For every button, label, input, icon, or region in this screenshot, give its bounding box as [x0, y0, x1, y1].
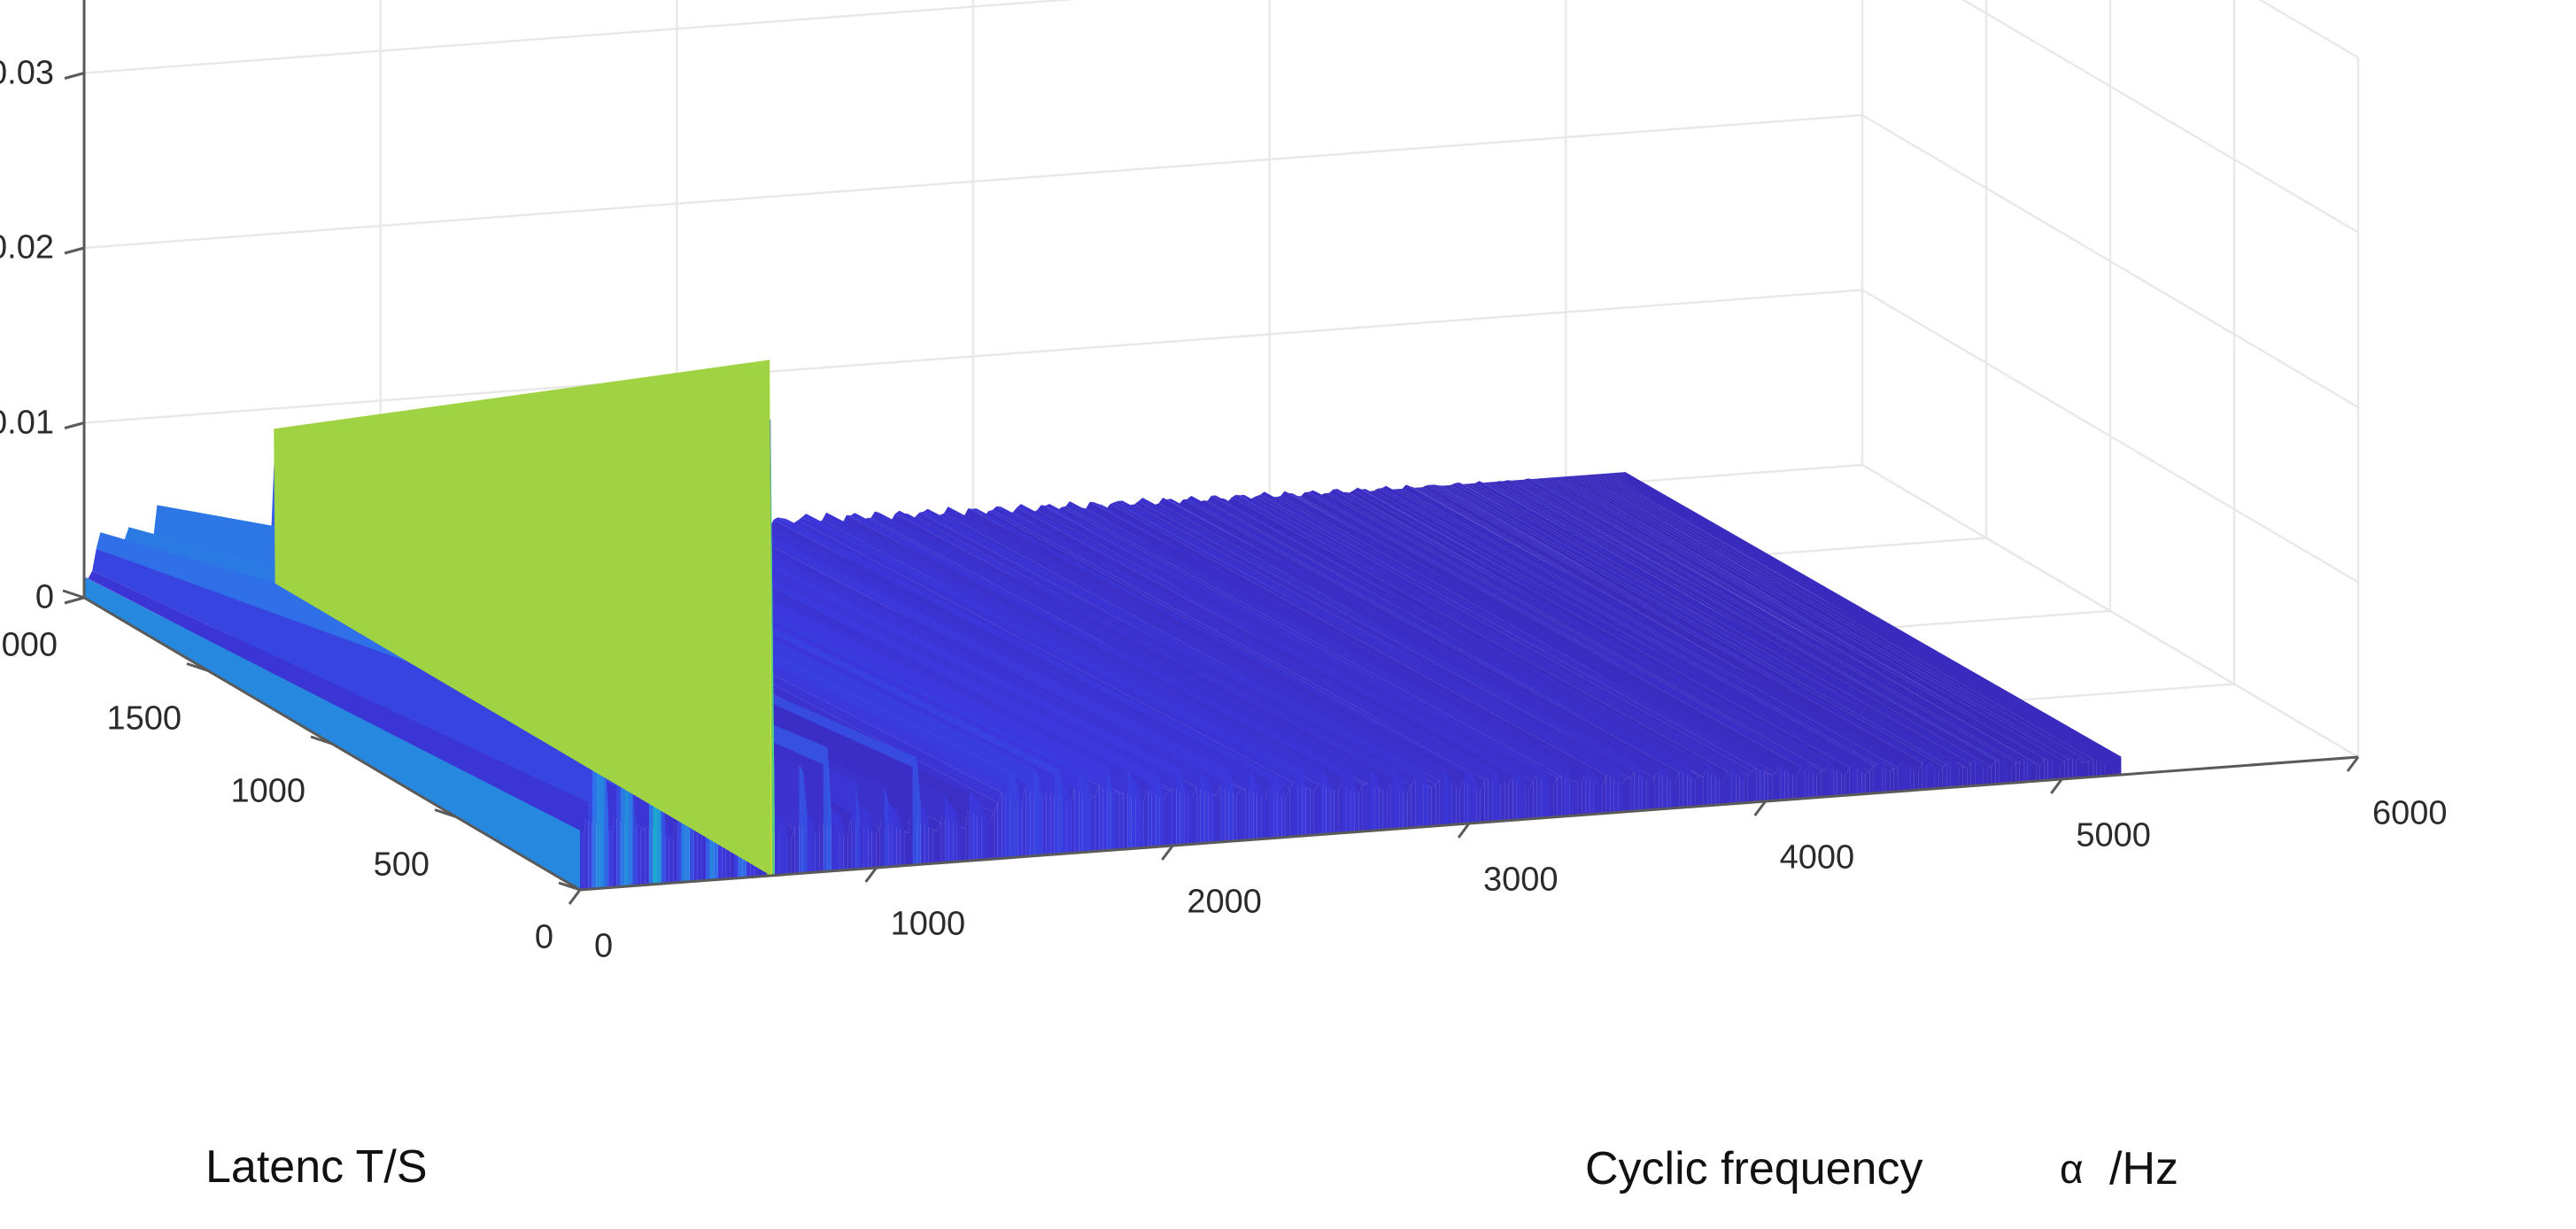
z-tick-label-0: 0 [35, 579, 54, 617]
x-tick-label-1: 1000 [891, 906, 966, 944]
x-axis-title: Cyclic frequency [1585, 1142, 1922, 1195]
y-tick-label-1: 500 [374, 846, 429, 884]
y-tick-label-3: 1500 [106, 700, 182, 738]
x-tick-label-5: 5000 [2076, 817, 2151, 855]
y-axis-title: Latenc T/S [205, 1140, 428, 1194]
z-tick-label-2: 0.02 [0, 229, 54, 267]
x-axis-title-unit: /Hz [2109, 1142, 2178, 1195]
y-tick-label-4: 2000 [0, 627, 58, 665]
x-axis-title-symbol: α [2060, 1145, 2084, 1193]
y-tick-label-2: 1000 [230, 773, 306, 811]
labels-layer: 00.010.020.030.0405001000150020000100020… [0, 0, 2576, 1229]
x-tick-label-2: 2000 [1187, 884, 1262, 922]
figure-3d-surface-plot: 00.010.020.030.0405001000150020000100020… [0, 0, 2576, 1229]
x-tick-label-3: 3000 [1483, 862, 1559, 900]
x-tick-label-6: 6000 [2372, 795, 2448, 833]
z-tick-label-1: 0.01 [0, 404, 54, 442]
y-tick-label-0: 0 [535, 919, 553, 957]
z-tick-label-3: 0.03 [0, 54, 54, 92]
x-tick-label-0: 0 [594, 928, 613, 966]
x-tick-label-4: 4000 [1780, 839, 1855, 877]
